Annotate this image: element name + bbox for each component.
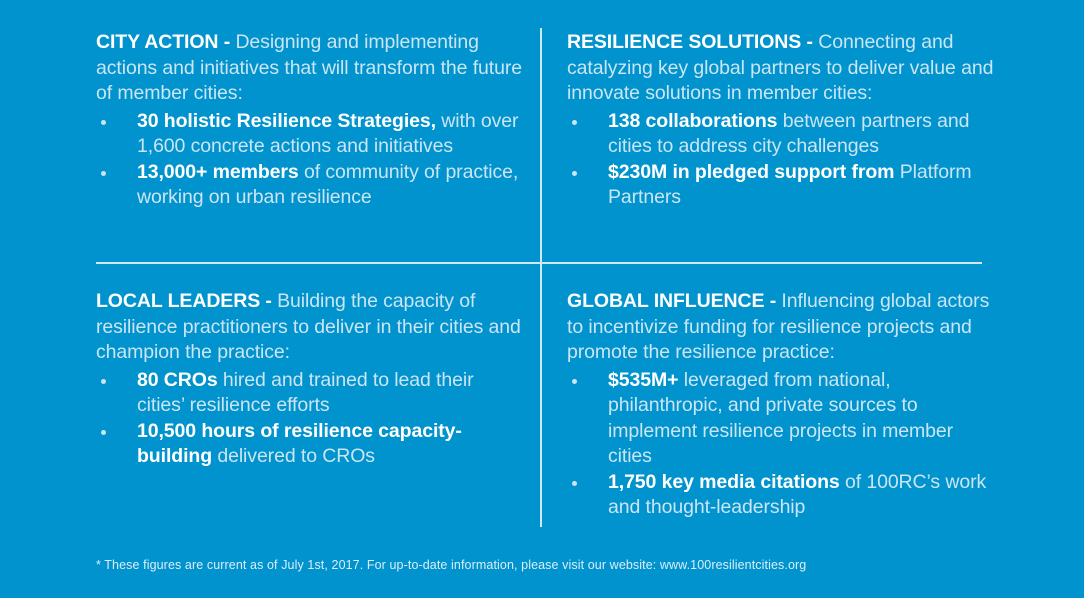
quadrant-city-action: CITY ACTION - Designing and implementing… [96, 30, 526, 211]
divider-horizontal [96, 262, 982, 264]
bullet-highlight: 13,000+ members [137, 161, 299, 183]
bullet-highlight: $535M+ [608, 369, 678, 391]
quadrant-grid: CITY ACTION - Designing and implementing… [0, 0, 1084, 540]
bullet-list: 30 holistic Resilience Strategies, with … [96, 109, 526, 211]
quadrant-heading: LOCAL LEADERS - [96, 290, 272, 312]
bullet-dot-icon [572, 120, 577, 125]
bullet-dot-icon [572, 171, 577, 176]
bullet-dot-icon [572, 379, 577, 384]
quadrant-heading: CITY ACTION - [96, 31, 230, 53]
list-item: 30 holistic Resilience Strategies, with … [96, 109, 526, 160]
bullet-dot-icon [101, 171, 106, 176]
bullet-list: 138 collaborations between partners and … [567, 109, 997, 211]
infographic-page: CITY ACTION - Designing and implementing… [0, 0, 1084, 598]
bullet-list: $535M+ leveraged from national, philanth… [567, 368, 997, 521]
quadrant-heading: GLOBAL INFLUENCE - [567, 290, 776, 312]
bullet-dot-icon [101, 379, 106, 384]
quadrant-resilience-solutions: RESILIENCE SOLUTIONS - Connecting and ca… [567, 30, 997, 211]
list-item: 10,500 hours of resilience capacity-buil… [96, 419, 526, 470]
bullet-highlight: 80 CROs [137, 369, 218, 391]
list-item: 13,000+ members of community of practice… [96, 160, 526, 211]
bullet-dot-icon [572, 481, 577, 486]
bullet-list: 80 CROs hired and trained to lead their … [96, 368, 526, 470]
list-item: $230M in pledged support from Platform P… [567, 160, 997, 211]
quadrant-global-influence: GLOBAL INFLUENCE - Influencing global ac… [567, 289, 997, 521]
quadrant-heading: RESILIENCE SOLUTIONS - [567, 31, 813, 53]
list-item: 80 CROs hired and trained to lead their … [96, 368, 526, 419]
bullet-highlight: 1,750 key media citations [608, 471, 840, 493]
bullet-highlight: 138 collaborations [608, 110, 777, 132]
quadrant-intro: CITY ACTION - Designing and implementing… [96, 30, 526, 107]
quadrant-intro: LOCAL LEADERS - Building the capacity of… [96, 289, 526, 366]
quadrant-intro: RESILIENCE SOLUTIONS - Connecting and ca… [567, 30, 997, 107]
footnote: * These figures are current as of July 1… [96, 557, 806, 573]
list-item: 138 collaborations between partners and … [567, 109, 997, 160]
list-item: $535M+ leveraged from national, philanth… [567, 368, 997, 470]
quadrant-local-leaders: LOCAL LEADERS - Building the capacity of… [96, 289, 526, 470]
list-item: 1,750 key media citations of 100RC’s wor… [567, 470, 997, 521]
bullet-highlight: $230M in pledged support from [608, 161, 894, 183]
divider-vertical [540, 28, 542, 527]
quadrant-intro: GLOBAL INFLUENCE - Influencing global ac… [567, 289, 997, 366]
bullet-highlight: 30 holistic Resilience Strategies, [137, 110, 436, 132]
bullet-text: delivered to CROs [212, 445, 375, 467]
bullet-dot-icon [101, 120, 106, 125]
bullet-dot-icon [101, 430, 106, 435]
